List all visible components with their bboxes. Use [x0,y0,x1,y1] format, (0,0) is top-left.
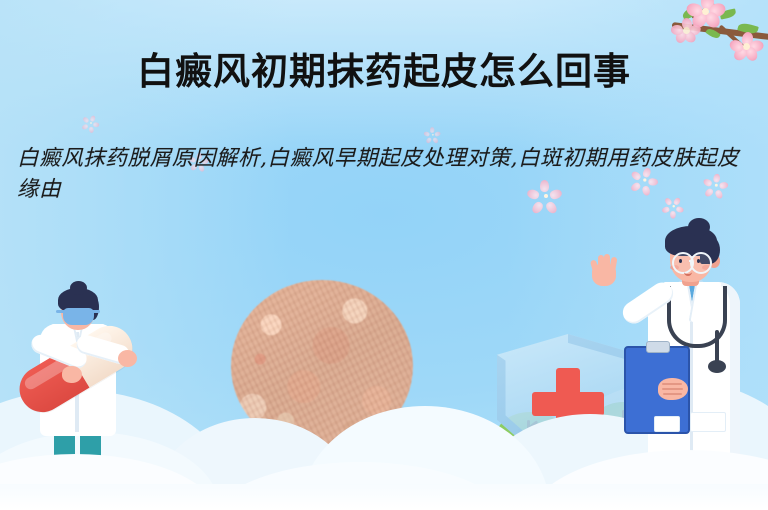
page-title: 白癜风初期抹药起皮怎么回事 [0,49,768,95]
hand-palm [592,264,616,286]
poster-canvas: 白癜风初期抹药起皮怎么回事 白癜风抹药脱屑原因解析,白癜风早期起皮处理对策,白斑… [0,0,768,510]
blossom-flower [674,18,698,42]
red-cross-icon [532,392,604,416]
coat-pocket [690,412,726,432]
glasses-icon [690,252,712,274]
doctor-hand-on-clipboard [658,378,688,400]
pharmacist-hand [62,366,82,383]
doctor-raised-hand [590,254,618,286]
coat-pocket [654,416,680,432]
doctor-eye [697,259,700,263]
doctor-eye [679,259,682,263]
pharmacist-hand [118,350,137,367]
stethoscope-head [708,360,726,373]
glasses-bridge [689,260,692,262]
page-subtitle: 白癜风抹药脱屑原因解析,白癜风早期起皮处理对策,白斑初期用药皮肤起皮缘由 [17,143,755,205]
doctor-hair-bun [688,218,710,236]
pharmacist-hair-bun [70,281,87,295]
ground-strip [0,484,768,510]
clipboard-clip [646,341,670,353]
stethoscope-tube [715,330,719,364]
face-mask-icon [63,308,94,325]
